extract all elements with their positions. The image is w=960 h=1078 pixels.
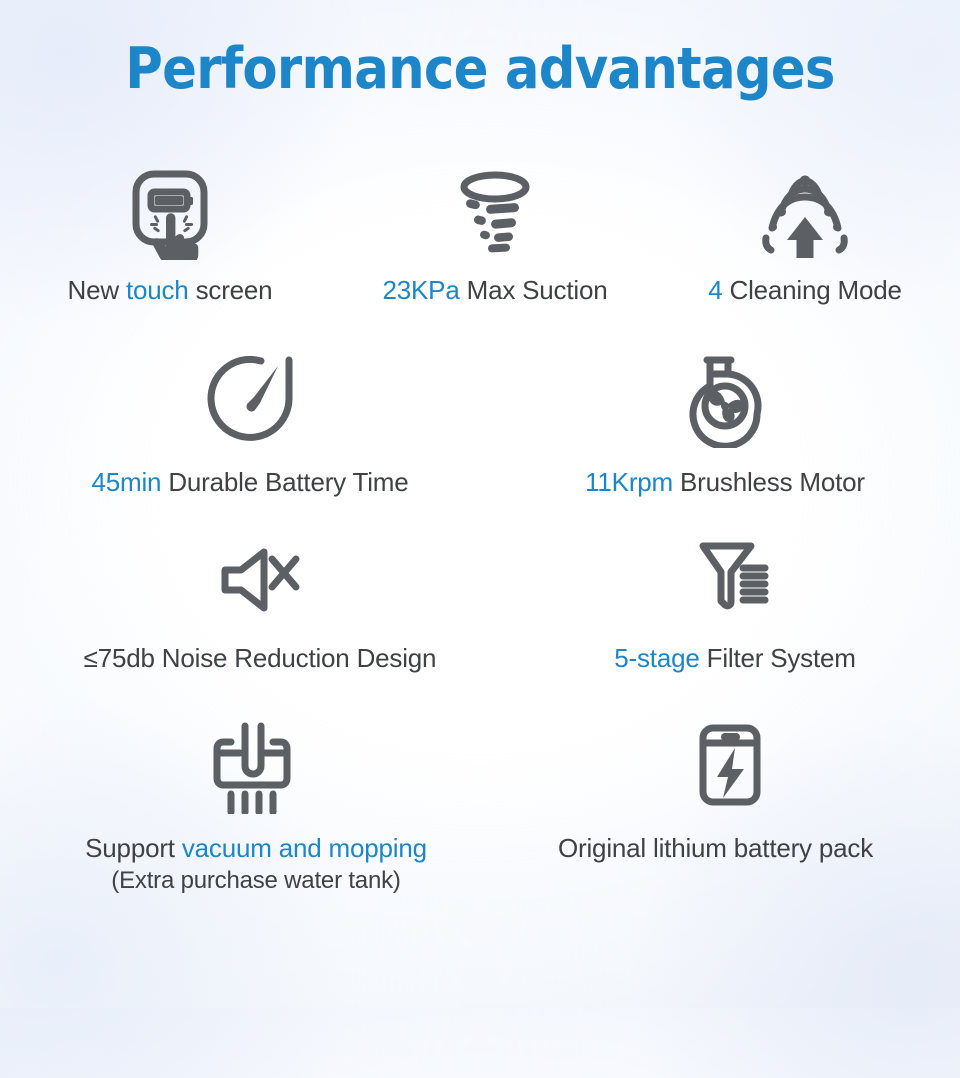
feature-cleaning-mode: 4 Cleaning Mode	[655, 168, 955, 307]
caption-suffix: Filter System	[700, 643, 856, 673]
muted-speaker-icon	[217, 544, 303, 616]
feature-caption: 4 Cleaning Mode	[655, 274, 955, 307]
icon-container	[655, 168, 955, 260]
caption-suffix: Durable Battery Time	[161, 467, 408, 497]
icon-container	[520, 722, 940, 814]
feature-caption: Original lithium battery pack	[520, 832, 890, 865]
feature-caption: Support vacuum and mopping	[6, 832, 506, 865]
feature-touch-screen: New touch screen	[10, 168, 330, 307]
feature-caption: 11Krpm Brushless Motor	[500, 466, 950, 499]
feature-caption: 23KPa Max Suction	[335, 274, 655, 307]
feature-lithium-battery: Original lithium battery pack	[520, 722, 940, 865]
brush-dome-arrow-icon	[755, 168, 855, 260]
icon-container	[10, 352, 490, 448]
icon-container	[335, 168, 655, 260]
icon-container	[10, 168, 330, 260]
feature-caption: 5-stage Filter System	[520, 642, 950, 675]
feature-filter-system: 5-stage Filter System	[520, 536, 950, 675]
feature-caption: New touch screen	[10, 274, 330, 307]
stopwatch-timer-icon	[204, 352, 296, 448]
caption-highlight: 11Krpm	[585, 467, 673, 497]
feature-caption: ≤75db Noise Reduction Design	[10, 642, 510, 675]
feature-max-suction: 23KPa Max Suction	[335, 168, 655, 307]
caption-prefix: New	[68, 275, 126, 305]
feature-battery-time: 45min Durable Battery Time	[10, 352, 490, 499]
feature-subtext: (Extra purchase water tank)	[6, 865, 506, 897]
caption-highlight: touch	[126, 275, 189, 305]
page-title: Performance advantages	[48, 36, 912, 102]
caption-suffix: Max Suction	[460, 275, 608, 305]
caption-prefix: ≤75db Noise Reduction Design	[84, 643, 437, 673]
water-tank-mop-icon	[211, 722, 301, 814]
caption-prefix: Support	[85, 833, 182, 863]
icon-container	[520, 536, 950, 616]
feature-vacuum-mopping: Support vacuum and mopping (Extra purcha…	[6, 722, 506, 897]
funnel-filter-icon	[695, 538, 775, 616]
caption-highlight: 45min	[91, 467, 161, 497]
feature-brushless-motor: 11Krpm Brushless Motor	[500, 352, 950, 499]
caption-suffix: Cleaning Mode	[722, 275, 901, 305]
icon-container	[500, 352, 950, 448]
cyclone-suction-icon	[449, 168, 541, 260]
blower-motor-fan-icon	[679, 352, 771, 448]
caption-highlight: 23KPa	[383, 275, 460, 305]
feature-noise-reduction: ≤75db Noise Reduction Design	[10, 536, 510, 675]
caption-suffix: screen	[189, 275, 273, 305]
caption-highlight: 5-stage	[614, 643, 699, 673]
caption-highlight: 4	[708, 275, 722, 305]
icon-container	[10, 536, 510, 616]
battery-pack-bolt-icon	[695, 722, 765, 814]
caption-highlight: vacuum and mopping	[182, 833, 427, 863]
performance-advantages-infographic: Performance advantages	[0, 0, 960, 1008]
touch-screen-battery-icon	[126, 168, 214, 260]
caption-prefix: Original lithium battery pack	[558, 833, 873, 863]
caption-suffix: Brushless Motor	[673, 467, 865, 497]
feature-caption: 45min Durable Battery Time	[10, 466, 490, 499]
icon-container	[6, 722, 506, 814]
